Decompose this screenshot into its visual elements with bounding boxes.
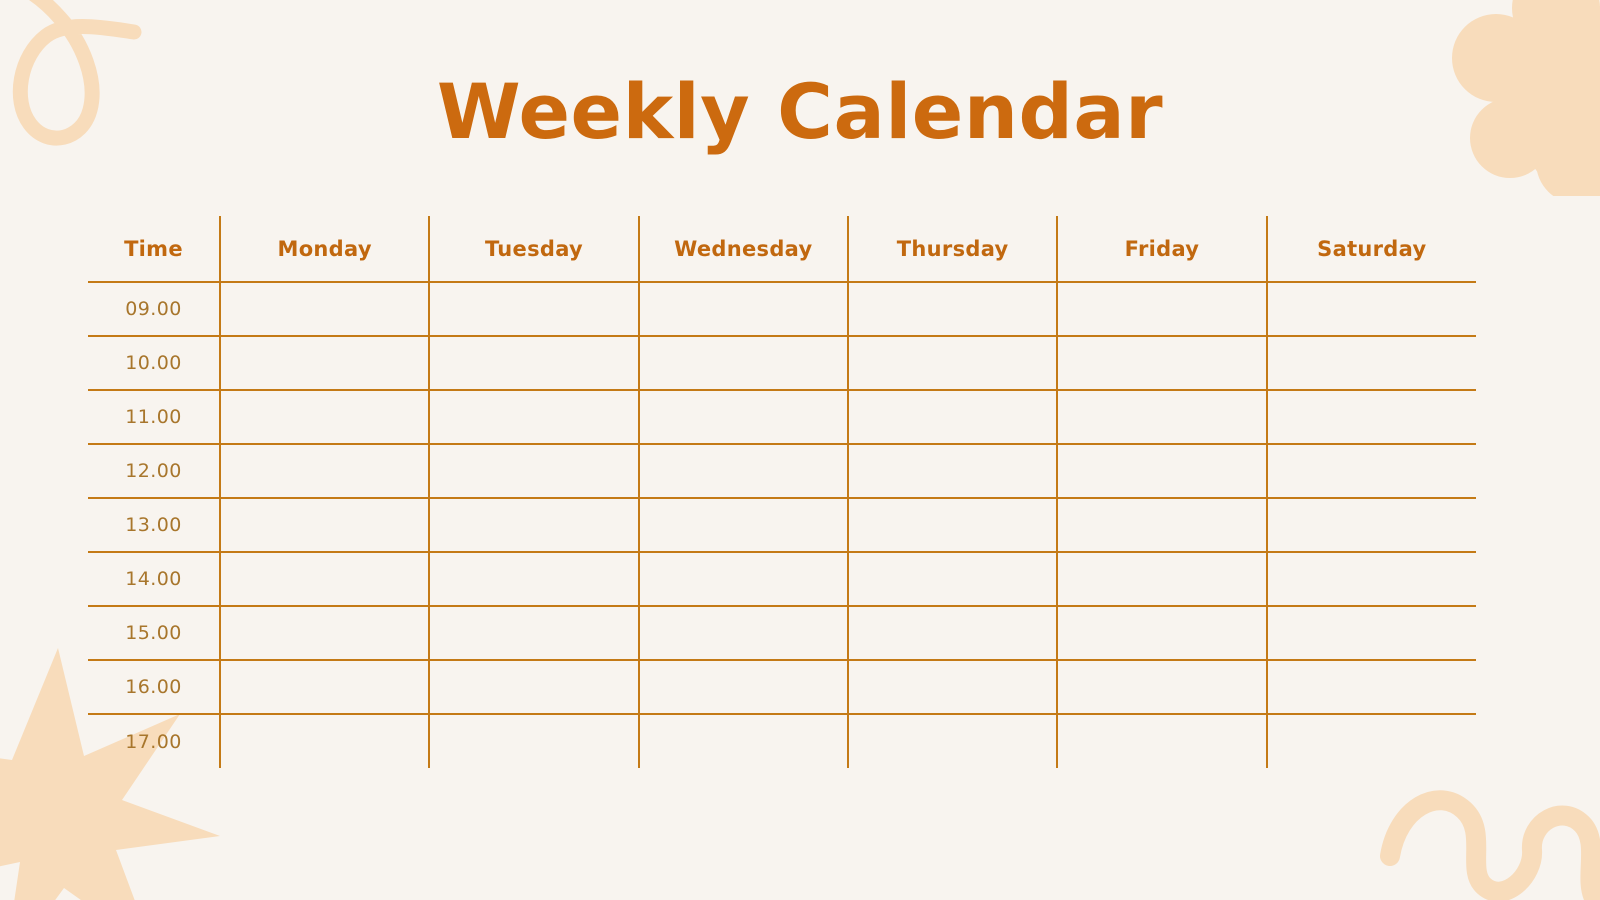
table-row: 15.00 xyxy=(88,606,1476,660)
calendar-slot-friday-10-00[interactable] xyxy=(1057,336,1266,390)
calendar-slot-monday-09-00[interactable] xyxy=(220,282,429,336)
calendar-slot-monday-13-00[interactable] xyxy=(220,498,429,552)
column-header-thursday: Thursday xyxy=(848,216,1057,282)
calendar-slot-saturday-11-00[interactable] xyxy=(1267,390,1476,444)
calendar-slot-wednesday-11-00[interactable] xyxy=(639,390,848,444)
calendar-slot-saturday-10-00[interactable] xyxy=(1267,336,1476,390)
calendar-slot-wednesday-10-00[interactable] xyxy=(639,336,848,390)
calendar-slot-monday-17-00[interactable] xyxy=(220,714,429,768)
calendar-slot-monday-10-00[interactable] xyxy=(220,336,429,390)
column-header-tuesday: Tuesday xyxy=(429,216,638,282)
calendar-slot-saturday-12-00[interactable] xyxy=(1267,444,1476,498)
column-header-time: Time xyxy=(88,216,220,282)
calendar-slot-saturday-15-00[interactable] xyxy=(1267,606,1476,660)
column-header-monday: Monday xyxy=(220,216,429,282)
table-body: 09.0010.0011.0012.0013.0014.0015.0016.00… xyxy=(88,282,1476,768)
column-header-friday: Friday xyxy=(1057,216,1266,282)
calendar-slot-monday-14-00[interactable] xyxy=(220,552,429,606)
calendar-slot-tuesday-10-00[interactable] xyxy=(429,336,638,390)
table-row: 11.00 xyxy=(88,390,1476,444)
time-label: 10.00 xyxy=(88,336,220,390)
calendar-slot-thursday-10-00[interactable] xyxy=(848,336,1057,390)
weekly-calendar-page: { "page": { "title": "Weekly Calendar", … xyxy=(0,0,1600,900)
time-label: 16.00 xyxy=(88,660,220,714)
table-row: 09.00 xyxy=(88,282,1476,336)
header-row: Time Monday Tuesday Wednesday Thursday F… xyxy=(88,216,1476,282)
calendar-slot-tuesday-12-00[interactable] xyxy=(429,444,638,498)
calendar-slot-wednesday-14-00[interactable] xyxy=(639,552,848,606)
calendar-slot-friday-11-00[interactable] xyxy=(1057,390,1266,444)
calendar-slot-friday-12-00[interactable] xyxy=(1057,444,1266,498)
table-row: 17.00 xyxy=(88,714,1476,768)
calendar-slot-wednesday-12-00[interactable] xyxy=(639,444,848,498)
time-label: 13.00 xyxy=(88,498,220,552)
calendar-slot-tuesday-16-00[interactable] xyxy=(429,660,638,714)
wavy-squiggle-icon xyxy=(1380,748,1600,900)
time-label: 17.00 xyxy=(88,714,220,768)
table-row: 16.00 xyxy=(88,660,1476,714)
calendar-slot-thursday-17-00[interactable] xyxy=(848,714,1057,768)
table-row: 13.00 xyxy=(88,498,1476,552)
time-label: 09.00 xyxy=(88,282,220,336)
calendar-slot-tuesday-14-00[interactable] xyxy=(429,552,638,606)
calendar-slot-friday-13-00[interactable] xyxy=(1057,498,1266,552)
calendar-slot-friday-09-00[interactable] xyxy=(1057,282,1266,336)
calendar-slot-saturday-13-00[interactable] xyxy=(1267,498,1476,552)
weekly-calendar-table: Time Monday Tuesday Wednesday Thursday F… xyxy=(88,216,1476,768)
calendar-slot-saturday-17-00[interactable] xyxy=(1267,714,1476,768)
calendar-slot-wednesday-17-00[interactable] xyxy=(639,714,848,768)
calendar-slot-thursday-14-00[interactable] xyxy=(848,552,1057,606)
time-label: 12.00 xyxy=(88,444,220,498)
calendar-slot-thursday-11-00[interactable] xyxy=(848,390,1057,444)
time-label: 15.00 xyxy=(88,606,220,660)
time-label: 14.00 xyxy=(88,552,220,606)
calendar-slot-wednesday-15-00[interactable] xyxy=(639,606,848,660)
calendar-slot-friday-15-00[interactable] xyxy=(1057,606,1266,660)
time-label: 11.00 xyxy=(88,390,220,444)
table-row: 12.00 xyxy=(88,444,1476,498)
calendar-slot-saturday-16-00[interactable] xyxy=(1267,660,1476,714)
calendar-slot-wednesday-13-00[interactable] xyxy=(639,498,848,552)
calendar-slot-saturday-09-00[interactable] xyxy=(1267,282,1476,336)
column-header-wednesday: Wednesday xyxy=(639,216,848,282)
calendar-slot-friday-17-00[interactable] xyxy=(1057,714,1266,768)
calendar-slot-tuesday-13-00[interactable] xyxy=(429,498,638,552)
calendar-slot-thursday-16-00[interactable] xyxy=(848,660,1057,714)
calendar-slot-wednesday-09-00[interactable] xyxy=(639,282,848,336)
calendar-slot-thursday-09-00[interactable] xyxy=(848,282,1057,336)
calendar-slot-tuesday-11-00[interactable] xyxy=(429,390,638,444)
calendar-slot-friday-16-00[interactable] xyxy=(1057,660,1266,714)
page-title-wrapper: Weekly Calendar xyxy=(0,74,1600,150)
calendar-slot-tuesday-15-00[interactable] xyxy=(429,606,638,660)
table-header: Time Monday Tuesday Wednesday Thursday F… xyxy=(88,216,1476,282)
table-row: 14.00 xyxy=(88,552,1476,606)
calendar-slot-friday-14-00[interactable] xyxy=(1057,552,1266,606)
calendar-slot-monday-16-00[interactable] xyxy=(220,660,429,714)
table-row: 10.00 xyxy=(88,336,1476,390)
page-title: Weekly Calendar xyxy=(0,74,1600,150)
column-header-saturday: Saturday xyxy=(1267,216,1476,282)
calendar-slot-monday-15-00[interactable] xyxy=(220,606,429,660)
calendar-slot-thursday-12-00[interactable] xyxy=(848,444,1057,498)
calendar-slot-monday-11-00[interactable] xyxy=(220,390,429,444)
calendar-slot-wednesday-16-00[interactable] xyxy=(639,660,848,714)
calendar-slot-thursday-15-00[interactable] xyxy=(848,606,1057,660)
calendar-slot-thursday-13-00[interactable] xyxy=(848,498,1057,552)
calendar-slot-tuesday-09-00[interactable] xyxy=(429,282,638,336)
calendar-slot-monday-12-00[interactable] xyxy=(220,444,429,498)
calendar-slot-saturday-14-00[interactable] xyxy=(1267,552,1476,606)
calendar-slot-tuesday-17-00[interactable] xyxy=(429,714,638,768)
